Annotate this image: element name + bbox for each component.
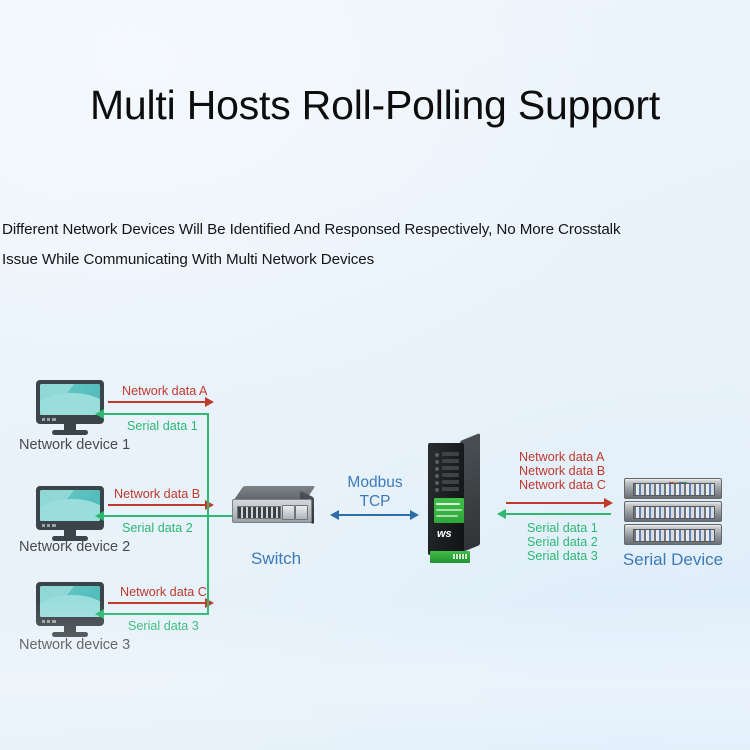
- network-data-b-label: Network data B: [114, 487, 200, 501]
- network-data-a-label: Network data A: [122, 384, 207, 398]
- serial-device-network-data-b-label: Network data B: [519, 464, 605, 478]
- serial-data-2-label: Serial data 2: [122, 521, 193, 535]
- serial-device-network-data-arrowhead: [604, 498, 613, 508]
- modbus-tcp-arrow-line: [339, 514, 411, 516]
- rack-unit-3: [624, 524, 722, 545]
- led-row: [435, 459, 461, 465]
- device-green-nameplate: [434, 498, 464, 523]
- led-row: [435, 473, 461, 479]
- led-row: [435, 452, 461, 458]
- serial-device-network-data-a-label: Network data A: [519, 450, 604, 464]
- rack-drive-bays: [633, 506, 715, 519]
- switch-label: Switch: [216, 549, 336, 569]
- device-led-indicators: [435, 452, 461, 492]
- network-data-a-arrowhead: [205, 397, 214, 407]
- network-device-2-monitor-icon: [36, 486, 104, 542]
- serial-data-1-arrow-line: [104, 413, 209, 415]
- led-row: [435, 466, 461, 472]
- subtitle-line-1: Different Network Devices Will Be Identi…: [2, 215, 750, 245]
- modbus-tcp-line-2: TCP: [320, 492, 430, 511]
- subtitle-line-2: Issue While Communicating With Multi Net…: [2, 245, 750, 275]
- serial-data-3-label: Serial data 3: [128, 619, 199, 633]
- monitor-indicator-leds: [42, 620, 56, 623]
- network-device-1-label: Network device 1: [19, 437, 130, 453]
- switch-port-bank: [237, 506, 281, 519]
- switch-uplink-port-1: [282, 505, 295, 520]
- page-subtitle: Different Network Devices Will Be Identi…: [2, 215, 750, 275]
- slide-canvas: Multi Hosts Roll-Polling Support Differe…: [0, 0, 750, 750]
- serial-data-1-label: Serial data 1: [127, 419, 198, 433]
- network-data-b-arrow-line: [108, 504, 208, 506]
- network-device-2-label: Network device 2: [19, 539, 130, 555]
- serial-device-serial-data-3-label: Serial data 3: [527, 549, 598, 563]
- rack-unit-1: [624, 478, 722, 499]
- network-data-c-label: Network data C: [120, 585, 207, 599]
- network-device-3-label: Network device 3: [19, 637, 130, 653]
- monitor-screen: [40, 586, 100, 617]
- rack-unit-2: [624, 501, 722, 522]
- serial-bus-vertical-line: [207, 413, 209, 615]
- serial-device-serial-data-arrow-line: [506, 513, 611, 515]
- switch-front-panel: [232, 499, 312, 523]
- serial-data-1-arrowhead: [95, 409, 104, 419]
- led-row: [435, 487, 461, 493]
- modbus-tcp-label: Modbus TCP: [320, 473, 430, 511]
- network-device-1-monitor-icon: [36, 380, 104, 436]
- serial-device-network-data-c-label: Network data C: [519, 478, 606, 492]
- switch-uplink-port-2: [295, 505, 308, 520]
- switch-icon: [232, 486, 316, 534]
- monitor-base: [52, 430, 88, 435]
- device-terminal-block: [430, 551, 470, 563]
- monitor-indicator-leds: [42, 418, 56, 421]
- serial-server-device-icon: ws: [424, 437, 486, 569]
- monitor-bezel: [36, 380, 104, 424]
- network-device-3-monitor-icon: [36, 582, 104, 638]
- serial-device-server-rack-icon: [624, 478, 722, 546]
- rack-drive-bays: [633, 529, 715, 542]
- monitor-bezel: [36, 486, 104, 530]
- serial-data-3-arrow-line: [104, 613, 209, 615]
- serial-device-serial-data-1-label: Serial data 1: [527, 521, 598, 535]
- serial-data-2-arrowhead: [95, 511, 104, 521]
- page-title: Multi Hosts Roll-Polling Support: [0, 82, 750, 129]
- network-data-a-arrow-line: [108, 401, 208, 403]
- monitor-screen: [40, 490, 100, 521]
- device-brand-logo: ws: [437, 529, 460, 545]
- monitor-bezel: [36, 582, 104, 626]
- serial-data-3-arrowhead: [95, 609, 104, 619]
- rack-drive-bays: [633, 483, 715, 496]
- device-front-panel: ws: [428, 443, 464, 555]
- monitor-indicator-leds: [42, 524, 56, 527]
- led-row: [435, 480, 461, 486]
- serial-device-network-data-arrow-line: [506, 502, 607, 504]
- monitor-screen: [40, 384, 100, 415]
- modbus-tcp-arrowhead-right: [410, 510, 419, 520]
- serial-device-label: Serial Device: [608, 550, 738, 570]
- serial-data-2-arrow-line: [104, 515, 236, 517]
- network-data-c-arrow-line: [108, 602, 208, 604]
- serial-device-serial-data-2-label: Serial data 2: [527, 535, 598, 549]
- modbus-tcp-arrowhead-left: [330, 510, 339, 520]
- modbus-tcp-line-1: Modbus: [320, 473, 430, 492]
- serial-device-serial-data-arrowhead: [497, 509, 506, 519]
